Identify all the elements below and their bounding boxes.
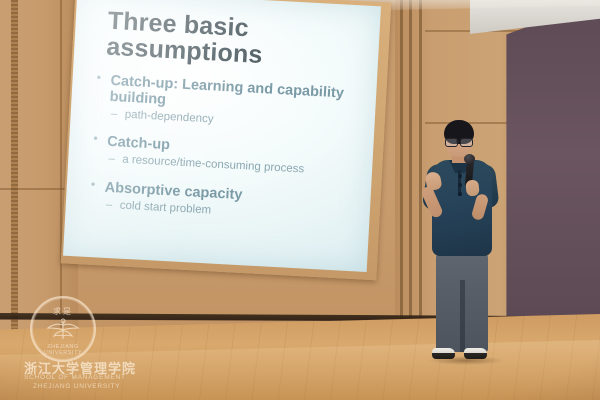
glasses-icon (445, 138, 473, 145)
phoenix-icon (46, 317, 80, 343)
seal-bottom-text: ZHEJIANG UNIVERSITY (32, 344, 94, 356)
list-item: Catch-up a resource/time-consuming proce… (90, 133, 359, 180)
slide-title: Three basic assumptions (106, 8, 366, 74)
list-item: Absorptive capacity cold start problem (87, 179, 356, 226)
sandal-left (432, 348, 455, 359)
lecture-photo: Three basic assumptions Catch-up: Learni… (0, 0, 600, 400)
panel-seam (400, 0, 403, 330)
shirt-button (458, 192, 462, 196)
speaker (408, 120, 528, 390)
microphone-head (464, 154, 475, 164)
projection-screen: Three basic assumptions Catch-up: Learni… (63, 0, 381, 272)
list-item: Catch-up: Learning and capability buildi… (92, 72, 362, 135)
university-seal-icon: 求是 ZHEJIANG UNIVERSITY (30, 296, 96, 362)
wall-seam (60, 0, 62, 330)
leg-separation (460, 280, 465, 352)
seal-top-text: 求是 (32, 306, 94, 317)
shirt-button (458, 183, 462, 187)
slide-bullet-list: Catch-up: Learning and capability buildi… (87, 72, 362, 226)
sandal-right (464, 348, 487, 359)
shirt-button (458, 174, 462, 178)
logo-english-line1: SCHOOL OF MANAGEMENT (24, 374, 136, 381)
hand-holding-microphone (465, 179, 480, 196)
logo-english-line2: ZHEJIANG UNIVERSITY (33, 383, 145, 390)
university-logo: 求是 ZHEJIANG UNIVERSITY 浙江大学管理学院 SCHOOL O… (24, 296, 134, 392)
slide-content: Three basic assumptions Catch-up: Learni… (63, 0, 381, 272)
